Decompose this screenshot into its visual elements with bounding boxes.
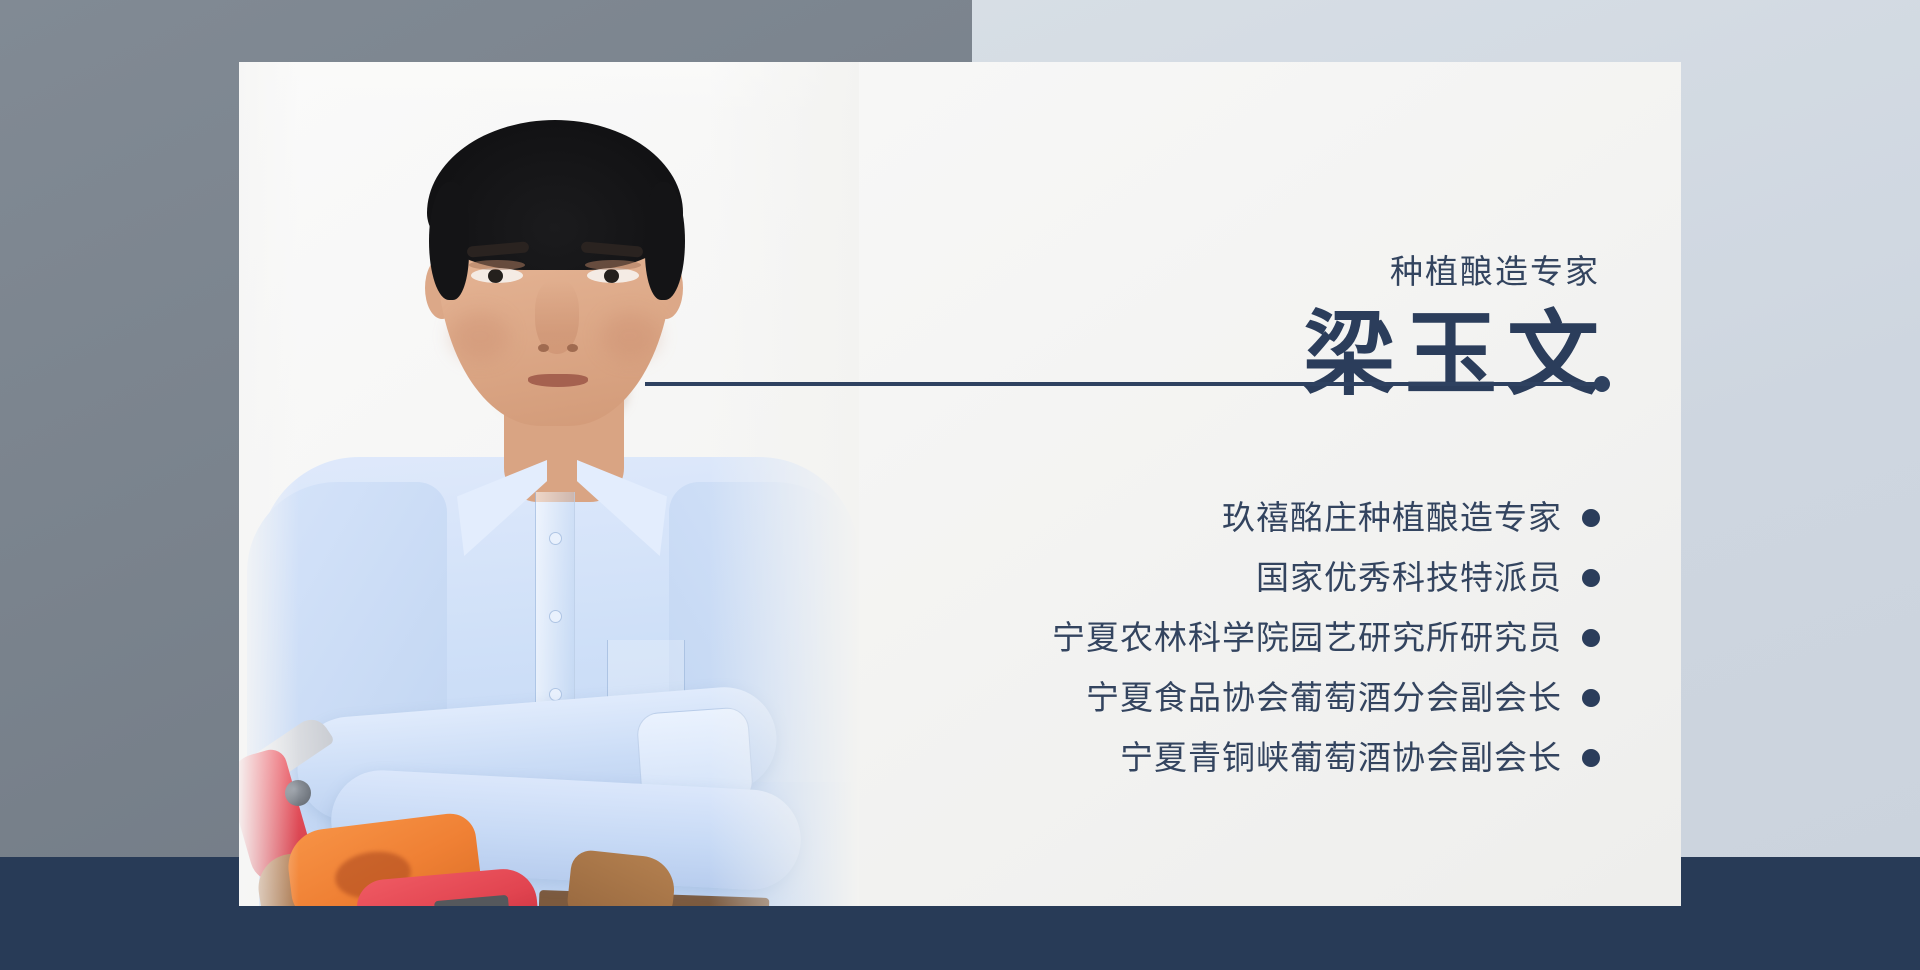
cheek-right: [601, 312, 659, 360]
cheek-left: [451, 312, 509, 360]
eyelid-right: [585, 260, 641, 270]
bullet-dot-icon: [1582, 689, 1600, 707]
header-divider-line: [645, 382, 1600, 386]
eye-left: [471, 268, 523, 283]
nostril-left: [538, 344, 549, 352]
credentials-list: 玖禧酩庄种植酿造专家 国家优秀科技特派员 宁夏农林科学院园艺研究所研究员 宁夏食…: [800, 499, 1600, 778]
nose: [535, 280, 579, 354]
hair-side-right: [645, 182, 685, 300]
credential-label: 国家优秀科技特派员: [1256, 559, 1562, 598]
mouth: [528, 374, 588, 387]
photo-fade-left: [239, 62, 299, 906]
photo-fade-right: [709, 62, 859, 906]
eyelid-left: [469, 260, 525, 270]
header-divider-dot: [1594, 376, 1610, 392]
nostril-right: [567, 344, 578, 352]
pupil-left: [488, 269, 503, 283]
profile-banner: 种植酿造专家 梁玉文 玖禧酩庄种植酿造专家 国家优秀科技特派员 宁夏农林科学院园…: [0, 0, 1920, 970]
profile-card: 种植酿造专家 梁玉文 玖禧酩庄种植酿造专家 国家优秀科技特派员 宁夏农林科学院园…: [239, 62, 1681, 906]
credential-item: 宁夏青铜峡葡萄酒协会副会长: [1120, 739, 1600, 778]
shirt-button: [549, 610, 562, 623]
credential-label: 宁夏农林科学院园艺研究所研究员: [1052, 619, 1562, 658]
credential-item: 宁夏食品协会葡萄酒分会副会长: [1086, 679, 1600, 718]
bullet-dot-icon: [1582, 629, 1600, 647]
eye-right: [587, 268, 639, 283]
hair-side-left: [429, 182, 469, 300]
shirt-button: [549, 532, 562, 545]
bullet-dot-icon: [1582, 509, 1600, 527]
expert-name: 梁玉文: [1303, 304, 1609, 407]
portrait-canvas: [239, 62, 859, 906]
credential-item: 宁夏农林科学院园艺研究所研究员: [1052, 619, 1600, 658]
credential-item: 玖禧酩庄种植酿造专家: [1222, 499, 1600, 538]
credential-label: 宁夏青铜峡葡萄酒协会副会长: [1120, 739, 1562, 778]
bullet-dot-icon: [1582, 569, 1600, 587]
expert-portrait-photo: [239, 62, 859, 906]
bullet-dot-icon: [1582, 749, 1600, 767]
credential-item: 国家优秀科技特派员: [1256, 559, 1600, 598]
pupil-right: [604, 269, 619, 283]
expert-subtitle: 种植酿造专家: [1390, 252, 1600, 292]
credential-label: 玖禧酩庄种植酿造专家: [1222, 499, 1562, 538]
credential-label: 宁夏食品协会葡萄酒分会副会长: [1086, 679, 1562, 718]
